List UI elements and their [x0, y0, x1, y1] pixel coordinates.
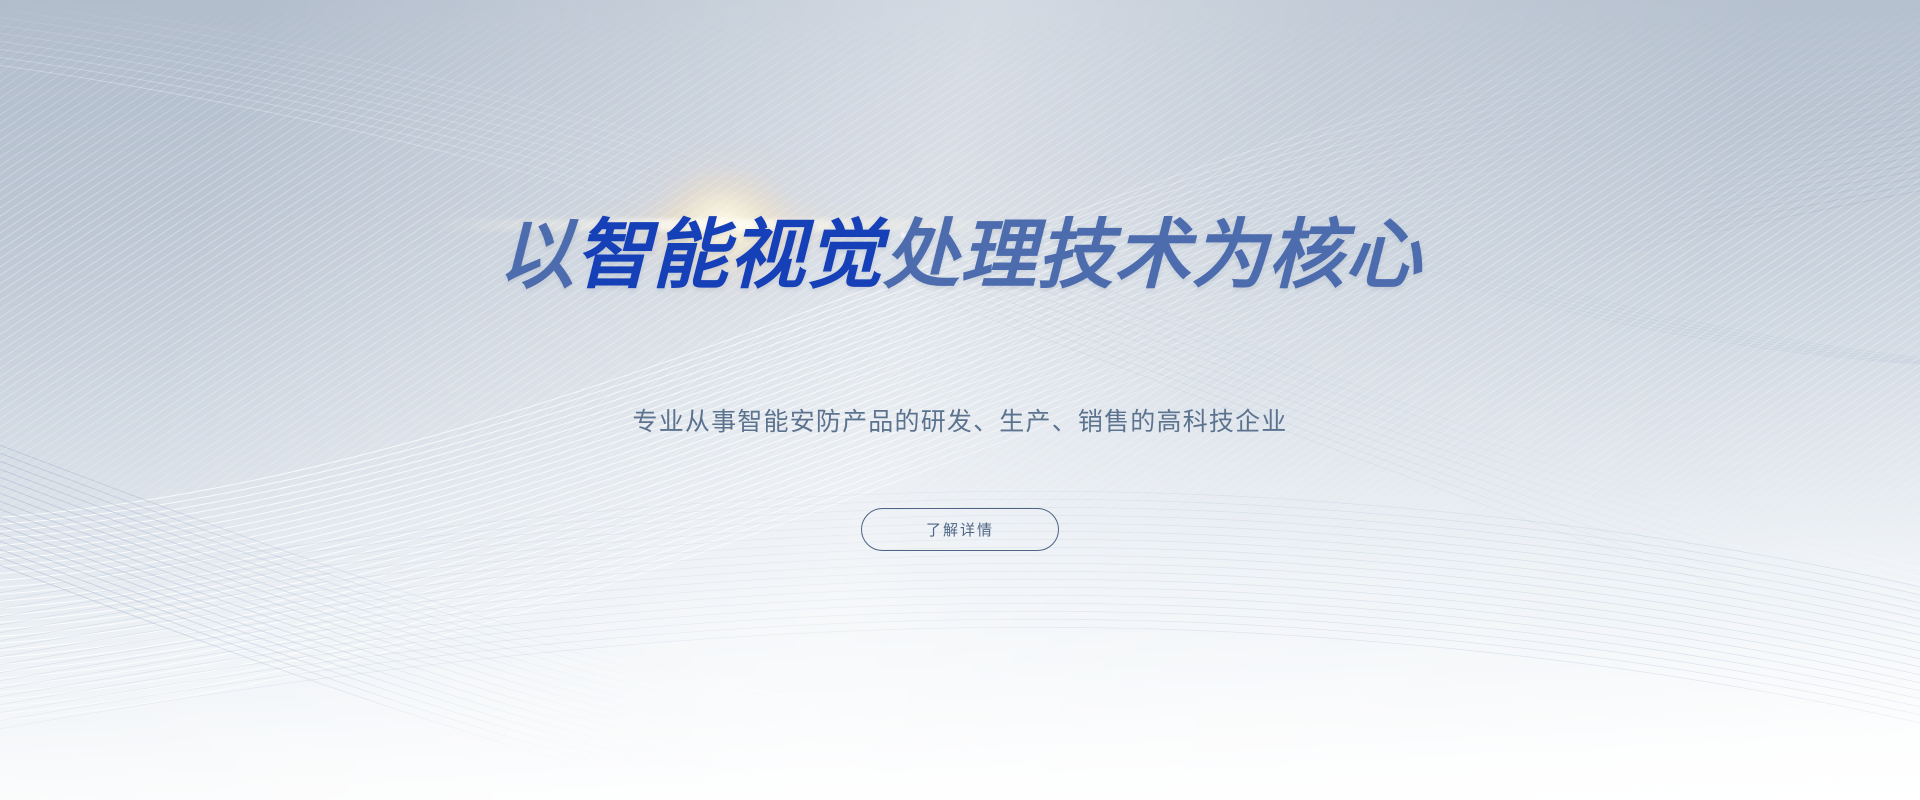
page-subtitle: 专业从事智能安防产品的研发、生产、销售的高科技企业 — [632, 404, 1287, 439]
hero-banner: 以智能视觉处理技术为核心 专业从事智能安防产品的研发、生产、销售的高科技企业 了… — [0, 0, 1920, 800]
headline-segment-tail: 处理技术为核心 — [883, 210, 1422, 299]
headline-segment-lead: 以 — [498, 210, 575, 299]
hero-content: 以智能视觉处理技术为核心 专业从事智能安防产品的研发、生产、销售的高科技企业 了… — [0, 0, 1920, 800]
cta-container: 了解详情 — [861, 508, 1059, 551]
page-title: 以智能视觉处理技术为核心 — [498, 217, 1422, 293]
learn-more-button[interactable]: 了解详情 — [861, 508, 1059, 551]
headline-segment-accent: 智能视觉 — [575, 210, 883, 299]
